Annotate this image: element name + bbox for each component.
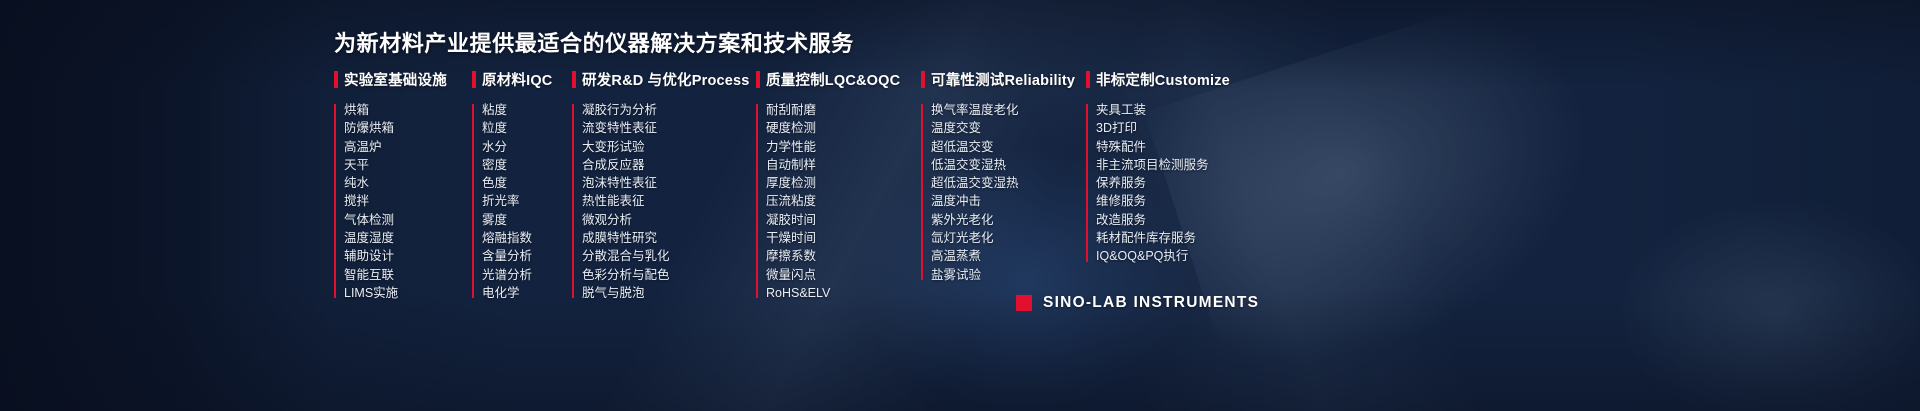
- list-item[interactable]: 泡沫特性表征: [582, 174, 756, 192]
- list-item[interactable]: 电化学: [482, 284, 572, 302]
- list-item[interactable]: 大变形试验: [582, 138, 756, 156]
- red-square-mark-icon: [1016, 295, 1032, 311]
- column-item-list: 粘度粒度水分密度色度折光率雾度熔融指数含量分析光谱分析电化学: [472, 101, 572, 302]
- list-item[interactable]: 保养服务: [1096, 174, 1266, 192]
- capability-column: 质量控制LQC&OQC耐刮耐磨硬度检测力学性能自动制样厚度检测压流粘度凝胶时间干…: [756, 68, 921, 302]
- column-header-label: 实验室基础设施: [344, 69, 447, 90]
- accent-rule-icon: [1086, 104, 1088, 262]
- list-item[interactable]: 温度交变: [931, 119, 1086, 137]
- column-header: 研发R&D 与优化Process: [572, 68, 756, 90]
- list-item[interactable]: 耗材配件库存服务: [1096, 229, 1266, 247]
- list-item[interactable]: 厚度检测: [766, 174, 921, 192]
- capability-column: 研发R&D 与优化Process凝胶行为分析流变特性表征大变形试验合成反应器泡沫…: [572, 68, 756, 302]
- list-item[interactable]: 色彩分析与配色: [582, 266, 756, 284]
- list-item[interactable]: 微观分析: [582, 211, 756, 229]
- list-item[interactable]: 低温交变湿热: [931, 156, 1086, 174]
- column-item-list: 烘箱防爆烘箱高温炉天平纯水搅拌气体检测温度湿度辅助设计智能互联LIMS实施: [334, 101, 472, 302]
- list-item[interactable]: 夹具工装: [1096, 101, 1266, 119]
- list-item[interactable]: 含量分析: [482, 247, 572, 265]
- list-item[interactable]: 脱气与脱泡: [582, 284, 756, 302]
- capability-column: 原材料IQC粘度粒度水分密度色度折光率雾度熔融指数含量分析光谱分析电化学: [472, 68, 572, 302]
- list-item[interactable]: 凝胶时间: [766, 211, 921, 229]
- list-item[interactable]: 氙灯光老化: [931, 229, 1086, 247]
- list-item[interactable]: 维修服务: [1096, 192, 1266, 210]
- column-header: 原材料IQC: [472, 68, 572, 90]
- list-item[interactable]: 防爆烘箱: [344, 119, 472, 137]
- list-item[interactable]: 色度: [482, 174, 572, 192]
- capability-columns: 实验室基础设施烘箱防爆烘箱高温炉天平纯水搅拌气体检测温度湿度辅助设计智能互联LI…: [334, 68, 1266, 302]
- list-item[interactable]: 密度: [482, 156, 572, 174]
- list-item[interactable]: 温度冲击: [931, 192, 1086, 210]
- accent-bar-icon: [472, 71, 476, 88]
- list-item[interactable]: 光谱分析: [482, 266, 572, 284]
- accent-rule-icon: [472, 104, 474, 298]
- list-item[interactable]: 非主流项目检测服务: [1096, 156, 1266, 174]
- list-item[interactable]: 纯水: [344, 174, 472, 192]
- accent-rule-icon: [756, 104, 758, 298]
- column-header: 质量控制LQC&OQC: [756, 68, 921, 90]
- column-item-list: 换气率温度老化温度交变超低温交变低温交变湿热超低温交变湿热温度冲击紫外光老化氙灯…: [921, 101, 1086, 284]
- list-item[interactable]: 超低温交变: [931, 138, 1086, 156]
- column-header: 可靠性测试Reliability: [921, 68, 1086, 90]
- list-item[interactable]: 高温蒸煮: [931, 247, 1086, 265]
- list-item[interactable]: 气体检测: [344, 211, 472, 229]
- list-item[interactable]: 力学性能: [766, 138, 921, 156]
- column-header-label: 研发R&D 与优化Process: [582, 69, 750, 90]
- list-item[interactable]: 辅助设计: [344, 247, 472, 265]
- list-item[interactable]: 自动制样: [766, 156, 921, 174]
- list-item[interactable]: 流变特性表征: [582, 119, 756, 137]
- list-item[interactable]: 粒度: [482, 119, 572, 137]
- list-item[interactable]: 盐雾试验: [931, 266, 1086, 284]
- accent-rule-icon: [334, 104, 336, 298]
- list-item[interactable]: 紫外光老化: [931, 211, 1086, 229]
- column-header-label: 原材料IQC: [482, 69, 552, 90]
- list-item[interactable]: 合成反应器: [582, 156, 756, 174]
- list-item[interactable]: 烘箱: [344, 101, 472, 119]
- accent-bar-icon: [572, 71, 576, 88]
- list-item[interactable]: 熔融指数: [482, 229, 572, 247]
- list-item[interactable]: 凝胶行为分析: [582, 101, 756, 119]
- brand-logo: SINO-LAB INSTRUMENTS: [1016, 294, 1259, 312]
- list-item[interactable]: 超低温交变湿热: [931, 174, 1086, 192]
- column-item-list: 耐刮耐磨硬度检测力学性能自动制样厚度检测压流粘度凝胶时间干燥时间摩擦系数微量闪点…: [756, 101, 921, 302]
- list-item[interactable]: 改造服务: [1096, 211, 1266, 229]
- accent-bar-icon: [1086, 71, 1090, 88]
- accent-bar-icon: [921, 71, 925, 88]
- accent-rule-icon: [572, 104, 574, 298]
- list-item[interactable]: 硬度检测: [766, 119, 921, 137]
- page-title: 为新材料产业提供最适合的仪器解决方案和技术服务: [334, 26, 854, 58]
- brand-name: SINO-LAB INSTRUMENTS: [1043, 294, 1259, 312]
- list-item[interactable]: 微量闪点: [766, 266, 921, 284]
- list-item[interactable]: 换气率温度老化: [931, 101, 1086, 119]
- list-item[interactable]: 分散混合与乳化: [582, 247, 756, 265]
- accent-bar-icon: [334, 71, 338, 88]
- list-item[interactable]: 特殊配件: [1096, 138, 1266, 156]
- list-item[interactable]: RoHS&ELV: [766, 284, 921, 302]
- list-item[interactable]: 耐刮耐磨: [766, 101, 921, 119]
- column-item-list: 凝胶行为分析流变特性表征大变形试验合成反应器泡沫特性表征热性能表征微观分析成膜特…: [572, 101, 756, 302]
- capability-column: 可靠性测试Reliability换气率温度老化温度交变超低温交变低温交变湿热超低…: [921, 68, 1086, 302]
- list-item[interactable]: 干燥时间: [766, 229, 921, 247]
- column-header: 实验室基础设施: [334, 68, 472, 90]
- list-item[interactable]: 搅拌: [344, 192, 472, 210]
- list-item[interactable]: 3D打印: [1096, 119, 1266, 137]
- accent-rule-icon: [921, 104, 923, 280]
- banner-stage: 为新材料产业提供最适合的仪器解决方案和技术服务 实验室基础设施烘箱防爆烘箱高温炉…: [0, 0, 1920, 411]
- column-item-list: 夹具工装3D打印特殊配件非主流项目检测服务保养服务维修服务改造服务耗材配件库存服…: [1086, 101, 1266, 266]
- column-header-label: 非标定制Customize: [1096, 69, 1230, 90]
- list-item[interactable]: LIMS实施: [344, 284, 472, 302]
- list-item[interactable]: 高温炉: [344, 138, 472, 156]
- list-item[interactable]: IQ&OQ&PQ执行: [1096, 247, 1266, 265]
- capability-column: 实验室基础设施烘箱防爆烘箱高温炉天平纯水搅拌气体检测温度湿度辅助设计智能互联LI…: [334, 68, 472, 302]
- column-header-label: 质量控制LQC&OQC: [766, 69, 900, 90]
- list-item[interactable]: 粘度: [482, 101, 572, 119]
- list-item[interactable]: 智能互联: [344, 266, 472, 284]
- list-item[interactable]: 成膜特性研究: [582, 229, 756, 247]
- list-item[interactable]: 天平: [344, 156, 472, 174]
- list-item[interactable]: 雾度: [482, 211, 572, 229]
- list-item[interactable]: 温度湿度: [344, 229, 472, 247]
- list-item[interactable]: 压流粘度: [766, 192, 921, 210]
- list-item[interactable]: 折光率: [482, 192, 572, 210]
- column-header: 非标定制Customize: [1086, 68, 1266, 90]
- column-header-label: 可靠性测试Reliability: [931, 69, 1075, 90]
- capability-column: 非标定制Customize夹具工装3D打印特殊配件非主流项目检测服务保养服务维修…: [1086, 68, 1266, 302]
- accent-bar-icon: [756, 71, 760, 88]
- list-item[interactable]: 摩擦系数: [766, 247, 921, 265]
- list-item[interactable]: 水分: [482, 138, 572, 156]
- list-item[interactable]: 热性能表征: [582, 192, 756, 210]
